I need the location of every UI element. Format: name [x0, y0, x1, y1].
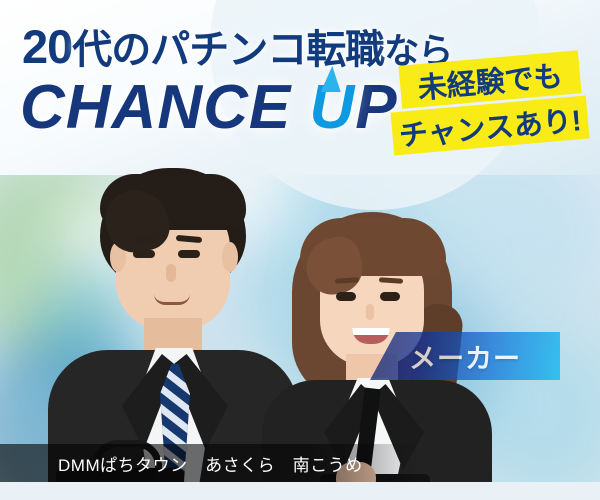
- category-button-maker[interactable]: メーカー: [370, 332, 560, 380]
- logo-chance-up: CHANCE UP: [20, 72, 398, 143]
- bottom-edge: [0, 482, 600, 500]
- ad-banner: 20代のパチンコ転職なら CHANCE UP 未経験でも チャンスあり! メーカ…: [0, 0, 600, 500]
- category-button-list: メーカー ホール 開発会社 代理店 メディア: [410, 182, 600, 482]
- headline-kicker: 20代のパチンコ転職なら: [22, 17, 452, 75]
- category-button-label: メーカー: [409, 337, 521, 376]
- headline-number: 20: [22, 20, 72, 73]
- logo-word-chance: CHANCE: [20, 73, 291, 142]
- credit-text: DMMぱちタウン あさくら 南こうめ: [58, 451, 363, 476]
- logo-letter-u: U: [309, 72, 355, 143]
- credit-bar: DMMぱちタウン あさくら 南こうめ: [0, 444, 420, 482]
